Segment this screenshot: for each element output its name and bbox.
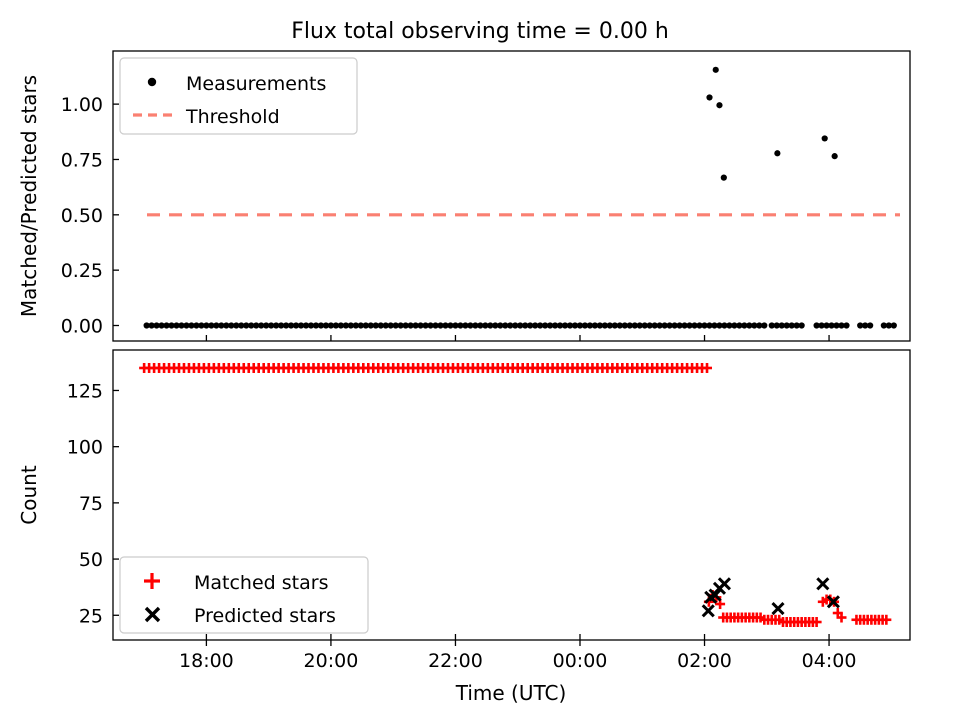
y-tick-label: 0.75 (61, 149, 103, 171)
y-tick-label: 0.25 (61, 260, 103, 282)
data-point (706, 94, 712, 100)
data-point (772, 603, 783, 614)
y-tick-label: 25 (79, 605, 103, 627)
x-tick-label: 20:00 (304, 650, 359, 672)
matplotlib-figure: Flux total observing time = 0.00 h 0.000… (0, 0, 960, 720)
x-axis-label: Time (UTC) (455, 681, 567, 705)
series-matched-stars (139, 363, 712, 373)
x-tick-label: 22:00 (428, 650, 483, 672)
data-point (719, 578, 730, 589)
bottom-panel-y-ticks: 255075100125 (67, 380, 119, 627)
bottom-panel-star-counts: 255075100125 18:0020:0022:0000:0002:0004… (17, 350, 910, 705)
y-tick-label: 50 (79, 549, 103, 571)
x-tick-label: 18:00 (179, 650, 234, 672)
data-point (774, 150, 780, 156)
y-tick-label: 0.50 (61, 205, 103, 227)
y-tick-label: 100 (67, 437, 103, 459)
bottom-panel-y-axis-label: Count (17, 465, 41, 525)
data-point (822, 135, 828, 141)
data-point (843, 322, 849, 328)
top-panel-y-ticks: 0.000.250.500.751.00 (61, 94, 119, 337)
legend-label-matched-stars: Matched stars (194, 572, 328, 594)
series-measurements (144, 322, 897, 328)
legend-label-threshold: Threshold (185, 106, 280, 128)
top-panel-y-axis-label: Matched/Predicted stars (17, 75, 41, 317)
legend-label-predicted-stars: Predicted stars (194, 605, 336, 627)
top-panel-flux-ratio: 0.000.250.500.751.00 Matched/Predicted s… (17, 51, 910, 341)
data-point (716, 102, 722, 108)
page-title: Flux total observing time = 0.00 h (291, 19, 669, 44)
data-point (867, 322, 873, 328)
bottom-panel-legend[interactable]: Matched stars Predicted stars (120, 557, 368, 633)
y-tick-label: 1.00 (61, 94, 103, 116)
figure-canvas: Flux total observing time = 0.00 h 0.000… (0, 0, 960, 720)
data-point (891, 322, 897, 328)
measurements-marker-icon (148, 78, 156, 86)
data-point (703, 605, 714, 616)
x-tick-label: 02:00 (677, 650, 732, 672)
data-point (761, 322, 767, 328)
data-point (713, 67, 719, 73)
legend-label-measurements: Measurements (186, 73, 326, 95)
y-tick-label: 0.00 (61, 316, 103, 338)
y-tick-label: 125 (67, 380, 103, 402)
data-point (832, 153, 838, 159)
y-tick-label: 75 (79, 493, 103, 515)
data-point (702, 363, 712, 373)
series-matched-stars-low (704, 590, 891, 627)
x-tick-label: 04:00 (802, 650, 857, 672)
series-predicted-stars (703, 578, 839, 616)
series-measurements-high (706, 67, 837, 181)
data-point (799, 322, 805, 328)
data-point (721, 175, 727, 181)
top-panel-x-ticks (206, 335, 829, 341)
top-panel-legend[interactable]: Measurements Threshold (120, 58, 357, 134)
data-point (817, 578, 828, 589)
x-tick-label: 00:00 (553, 650, 608, 672)
